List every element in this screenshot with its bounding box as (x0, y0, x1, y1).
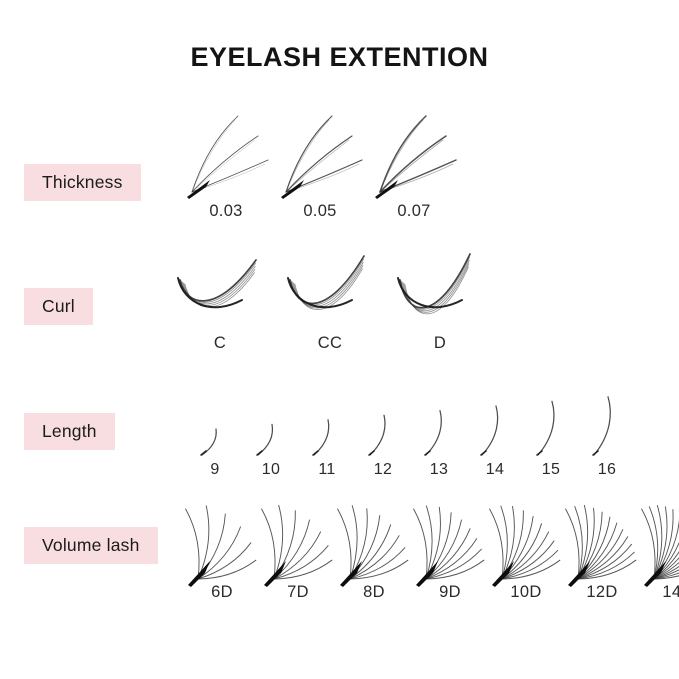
lash-volume-fan-icon (338, 495, 410, 587)
items-thickness: 0.030.050.07 (182, 110, 458, 221)
lash-sample-thickness-0.03[interactable]: 0.03 (182, 110, 270, 221)
lash-sample-volume-14D[interactable]: 14D (642, 495, 679, 602)
lash-strand (192, 120, 235, 192)
row-volume: Volume lash 6D7D8D9D10D12D14D16D (0, 495, 679, 600)
lash-fan-3-strand-icon (370, 110, 458, 202)
lash-strand (593, 451, 598, 455)
row-label-volume: Volume lash (24, 527, 158, 564)
lash-volume-fan-icon (490, 495, 562, 587)
lash-strand (425, 451, 430, 455)
lash-strand (380, 140, 443, 192)
lash-curl-cluster-icon (282, 254, 378, 332)
lash-sample-length-11[interactable]: 11 (304, 385, 350, 479)
lash-strand (566, 509, 579, 579)
lash-single-arc-icon (584, 385, 630, 463)
lash-strand (426, 411, 441, 455)
lash-sample-caption: 14 (486, 461, 504, 479)
lash-sample-length-9[interactable]: 9 (192, 385, 238, 479)
lash-single-arc-icon (248, 385, 294, 463)
lash-sample-thickness-0.05[interactable]: 0.05 (276, 110, 364, 221)
lash-sample-caption: 9D (439, 583, 461, 602)
lash-sample-caption: D (434, 334, 446, 353)
lash-strand (338, 509, 351, 579)
lash-strand (258, 424, 272, 455)
lash-strand (370, 415, 385, 455)
lash-single-arc-icon (192, 385, 238, 463)
row-thickness: Thickness 0.030.050.07 (0, 110, 679, 240)
lash-sample-caption: 11 (318, 461, 335, 479)
lash-strand (202, 429, 216, 455)
lash-sample-caption: 8D (363, 583, 385, 602)
lash-root (375, 180, 398, 199)
lash-strand (286, 140, 349, 192)
lash-sample-length-10[interactable]: 10 (248, 385, 294, 479)
lash-fan-3-strand-icon (182, 110, 270, 202)
lash-sample-volume-10D[interactable]: 10D (490, 495, 562, 602)
lash-fan-3-strand-icon (276, 110, 364, 202)
lash-single-arc-icon (416, 385, 462, 463)
lash-strand (286, 116, 332, 192)
eyelash-extension-chart: EYELASH EXTENTION Thickness 0.030.050.07… (0, 0, 679, 679)
lash-root (281, 180, 304, 199)
lash-sample-caption: 12 (374, 461, 392, 479)
lash-sample-caption: 0.07 (397, 202, 430, 221)
lash-strand (192, 116, 238, 192)
items-volume: 6D7D8D9D10D12D14D16D (186, 495, 679, 602)
lash-sample-caption: 0.03 (209, 202, 242, 221)
lash-sample-length-14[interactable]: 14 (472, 385, 518, 479)
lash-volume-fan-icon (642, 495, 679, 587)
lash-strand (286, 136, 352, 192)
lash-strand (380, 116, 426, 192)
lash-sample-volume-8D[interactable]: 8D (338, 495, 410, 602)
lash-strand (290, 256, 364, 303)
lash-sample-caption: 15 (542, 461, 560, 479)
lash-strand (192, 136, 258, 192)
lash-sample-caption: CC (318, 334, 342, 353)
lash-strand (537, 451, 542, 455)
row-label-thickness: Thickness (24, 164, 141, 201)
lash-strand (262, 509, 275, 579)
lash-sample-thickness-0.07[interactable]: 0.07 (370, 110, 458, 221)
lash-strand (481, 451, 486, 455)
lash-sample-length-15[interactable]: 15 (528, 385, 574, 479)
lash-strand (192, 140, 255, 192)
lash-volume-fan-icon (262, 495, 334, 587)
lash-single-arc-icon (360, 385, 406, 463)
lash-strand (186, 509, 199, 579)
row-label-length: Length (24, 413, 115, 450)
row-curl: Curl CCCD (0, 250, 679, 365)
lash-sample-caption: 13 (430, 461, 448, 479)
lash-sample-caption: 10D (510, 583, 541, 602)
lash-strand (594, 397, 610, 455)
lash-sample-caption: C (214, 334, 226, 353)
lash-sample-volume-6D[interactable]: 6D (186, 495, 258, 602)
lash-strand (490, 509, 503, 579)
lash-sample-curl-C[interactable]: C (172, 254, 268, 353)
page-title: EYELASH EXTENTION (0, 42, 679, 73)
lash-sample-caption: 10 (262, 461, 280, 479)
lash-strand (198, 506, 209, 579)
lash-sample-caption: 7D (287, 583, 309, 602)
lash-strand (286, 120, 329, 192)
lash-sample-curl-CC[interactable]: CC (282, 254, 378, 353)
lash-single-arc-icon (472, 385, 518, 463)
lash-strand (380, 120, 423, 192)
lash-sample-volume-12D[interactable]: 12D (566, 495, 638, 602)
lash-strand (642, 509, 655, 579)
lash-single-arc-icon (304, 385, 350, 463)
lash-sample-length-13[interactable]: 13 (416, 385, 462, 479)
lash-sample-length-16[interactable]: 16 (584, 385, 630, 479)
lash-strand (314, 420, 329, 455)
lash-strand (482, 406, 498, 455)
lash-root (187, 180, 210, 199)
lash-strand (350, 560, 408, 579)
lash-sample-caption: 6D (211, 583, 233, 602)
lash-sample-caption: 9 (210, 461, 219, 479)
lash-curl-cluster-icon (392, 254, 488, 332)
lash-sample-caption: 14D (662, 583, 679, 602)
lash-sample-length-12[interactable]: 12 (360, 385, 406, 479)
lash-sample-caption: 16 (598, 461, 616, 479)
lash-strand (538, 401, 554, 455)
lash-sample-volume-7D[interactable]: 7D (262, 495, 334, 602)
lash-volume-fan-icon (566, 495, 638, 587)
lash-sample-curl-D[interactable]: D (392, 254, 488, 353)
lash-sample-volume-9D[interactable]: 9D (414, 495, 486, 602)
lash-volume-fan-icon (186, 495, 258, 587)
lash-single-arc-icon (528, 385, 574, 463)
lash-sample-caption: 12D (586, 583, 617, 602)
lash-volume-fan-icon (414, 495, 486, 587)
row-label-curl: Curl (24, 288, 93, 325)
lash-strand (414, 509, 427, 579)
items-curl: CCCD (172, 254, 488, 353)
row-length: Length 910111213141516 (0, 385, 679, 485)
lash-sample-caption: 0.05 (303, 202, 336, 221)
items-length: 910111213141516 (192, 385, 630, 479)
lash-curl-cluster-icon (172, 254, 268, 332)
